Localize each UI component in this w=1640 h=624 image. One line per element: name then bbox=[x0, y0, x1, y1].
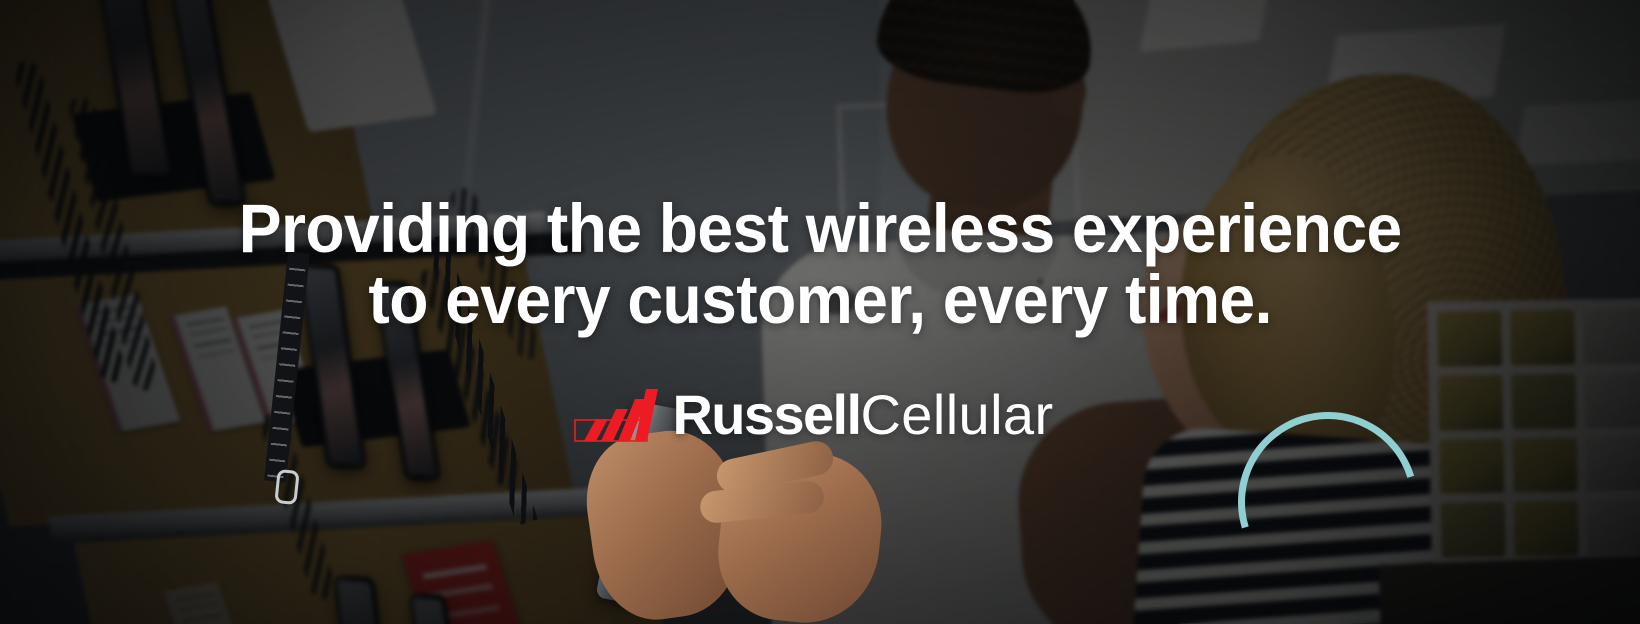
logo-word-russell: Russell bbox=[672, 383, 860, 446]
headline-line-2: to every customer, every time. bbox=[239, 264, 1402, 335]
hero-headline: Providing the best wireless experience t… bbox=[239, 193, 1402, 335]
headline-line-1: Providing the best wireless experience bbox=[239, 193, 1402, 264]
russell-cellular-bars-mark bbox=[574, 387, 658, 443]
logo-word-cellular: Cellular bbox=[860, 383, 1053, 446]
logo-wordmark: RussellCellular bbox=[672, 387, 1053, 443]
hero-content: Providing the best wireless experience t… bbox=[0, 0, 1640, 624]
hero-banner: Providing the best wireless experience t… bbox=[0, 0, 1640, 624]
russell-cellular-logo[interactable]: RussellCellular bbox=[574, 387, 1053, 443]
